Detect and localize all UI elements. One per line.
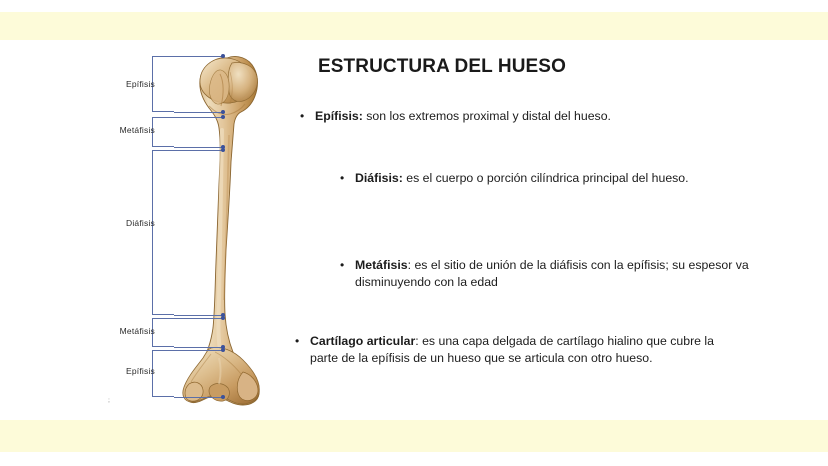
- list-item-term: Diáfisis:: [355, 171, 403, 185]
- slide-canvas: Epífisis Metáfisis Diáfisis Metáfisis Ep…: [0, 0, 828, 466]
- leader-line-metafisis-proximal-bottom: [174, 147, 222, 148]
- label-metafisis-distal: Metáfisis: [100, 326, 155, 336]
- list-item-cartilago-articular: • Cartílago articular: es una capa delga…: [295, 333, 715, 367]
- marker-dot-diafisis-top: [221, 148, 225, 152]
- list-item-text: Cartílago articular: es una capa delgada…: [310, 333, 715, 367]
- list-item-diafisis: • Diáfisis: es el cuerpo o porción cilín…: [340, 170, 790, 187]
- leader-line-diafisis-bottom: [174, 315, 222, 316]
- top-decorative-band: [0, 12, 828, 40]
- leader-line-epifisis-distal-top: [174, 350, 222, 351]
- list-item-epifisis: • Epífisis: son los extremos proximal y …: [300, 108, 780, 125]
- label-diafisis: Diáfisis: [100, 218, 155, 228]
- content-panel: ESTRUCTURA DEL HUESO • Epífisis: son los…: [285, 50, 815, 420]
- leader-line-metafisis-proximal-top: [174, 117, 222, 118]
- marker-dot-epifisis-distal-bottom: [221, 395, 225, 399]
- list-item-term: Cartílago articular: [310, 334, 415, 348]
- label-epifisis-proximal: Epífisis: [100, 79, 155, 89]
- list-item-text: Epífisis: son los extremos proximal y di…: [315, 108, 780, 125]
- leader-line-epifisis-proximal-top: [174, 56, 222, 57]
- bullet-marker-icon: •: [340, 257, 355, 274]
- marker-dot-epifisis-distal-top: [221, 348, 225, 352]
- bone-anatomy-diagram: Epífisis Metáfisis Diáfisis Metáfisis Ep…: [95, 50, 280, 425]
- list-item-text: Metáfisis: es el sitio de unión de la di…: [355, 257, 760, 291]
- humerus-bone-illustration: [175, 50, 280, 420]
- label-metafisis-proximal: Metáfisis: [100, 125, 155, 135]
- list-item-description: son los extremos proximal y distal del h…: [363, 109, 611, 123]
- bracket-metafisis-distal: [152, 318, 174, 347]
- bullet-marker-icon: •: [300, 108, 315, 125]
- marker-dot-metafisis-distal-top: [221, 316, 225, 320]
- bracket-epifisis-proximal: [152, 56, 174, 112]
- page-title: ESTRUCTURA DEL HUESO: [318, 56, 566, 78]
- leader-line-epifisis-distal-bottom: [174, 397, 222, 398]
- list-item-text: Diáfisis: es el cuerpo o porción cilíndr…: [355, 170, 790, 187]
- marker-dot-epifisis-proximal-top: [221, 54, 225, 58]
- bullet-marker-icon: •: [340, 170, 355, 187]
- list-item-term: Metáfisis: [355, 258, 408, 272]
- list-item-term: Epífisis:: [315, 109, 363, 123]
- leader-line-metafisis-distal-bottom: [174, 347, 222, 348]
- list-item-metafisis: • Metáfisis: es el sitio de unión de la …: [340, 257, 760, 291]
- marker-dot-epifisis-proximal-bottom: [221, 110, 225, 114]
- bracket-metafisis-proximal: [152, 117, 174, 147]
- marker-dot-metafisis-proximal-top: [221, 115, 225, 119]
- bracket-diafisis: [152, 150, 174, 315]
- stray-text-artifact: ;: [108, 398, 110, 403]
- leader-line-diafisis-top: [174, 150, 222, 151]
- leader-line-metafisis-distal-top: [174, 318, 222, 319]
- leader-line-epifisis-proximal-bottom: [174, 112, 222, 113]
- list-item-description: es el cuerpo o porción cilíndrica princi…: [403, 171, 689, 185]
- label-epifisis-distal: Epífisis: [100, 366, 155, 376]
- list-item-description: : es el sitio de unión de la diáfisis co…: [355, 258, 749, 289]
- bullet-marker-icon: •: [295, 333, 310, 350]
- bracket-epifisis-distal: [152, 350, 174, 397]
